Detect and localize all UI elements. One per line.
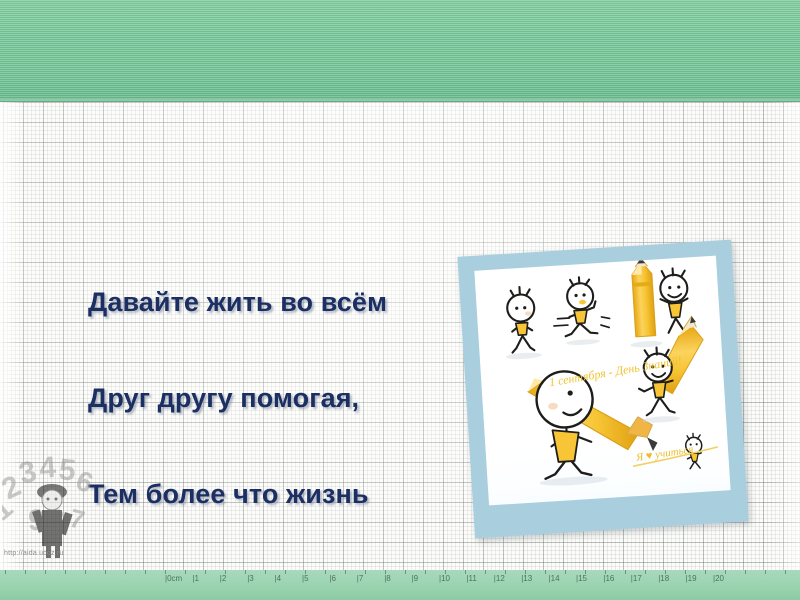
photo-card: 1 сентября - День Знаний! Я ♥ учиться (466, 248, 766, 548)
ruler-number-labels: |0cm|1|2|3|4|5|6|7|8|9|10|11|12|13|14|15… (0, 573, 800, 593)
ruler-label-8: |8 (384, 573, 391, 584)
ruler-label-3: |3 (247, 573, 254, 584)
ruler-label-0: |0cm (165, 573, 182, 584)
stick-figures-illustration: 1 сентября - День Знаний! Я ♥ учиться (474, 256, 730, 506)
ruler-strip: |0cm|1|2|3|4|5|6|7|8|9|10|11|12|13|14|15… (0, 570, 800, 600)
ruler-label-17: |17 (631, 573, 642, 584)
ruler-label-6: |6 (329, 573, 336, 584)
ruler-label-15: |15 (576, 573, 587, 584)
watermark-digit-5: 5 (57, 453, 77, 488)
ruler-label-7: |7 (357, 573, 364, 584)
ruler-label-19: |19 (686, 573, 697, 584)
poem-text-block: Давайте жить во всём Друг другу помогая,… (88, 222, 488, 600)
top-green-band (0, 0, 800, 102)
ruler-label-2: |2 (220, 573, 227, 584)
ruler-label-14: |14 (549, 573, 560, 584)
slide-canvas: Давайте жить во всём Друг другу помогая,… (0, 0, 800, 600)
photo-caption-bottom: Я ♥ учиться (634, 443, 694, 464)
ruler-label-12: |12 (494, 573, 505, 584)
photo-image-area: 1 сентября - День Знаний! Я ♥ учиться (474, 256, 730, 506)
watermark-url: http://aida.ucoz.ru (4, 550, 100, 557)
photo-frame-border: 1 сентября - День Знаний! Я ♥ учиться (457, 240, 748, 539)
ruler-label-20: |20 (713, 573, 724, 584)
ruler-label-1: |1 (192, 573, 199, 584)
ruler-label-16: |16 (603, 573, 614, 584)
pencil-vertical (631, 258, 656, 337)
stick-figure-3 (659, 268, 690, 334)
watermark-digit-4: 4 (38, 452, 57, 485)
ruler-label-9: |9 (412, 573, 419, 584)
ruler-label-5: |5 (302, 573, 309, 584)
poem-line-2: Друг другу помогая, (88, 382, 488, 414)
poem-line-1: Давайте жить во всём (88, 286, 488, 318)
watermark-logo: 2 3 4 5 6 1 9 8 7 (2, 452, 106, 560)
ruler-label-18: |18 (658, 573, 669, 584)
ruler-label-13: |13 (521, 573, 532, 584)
stick-figure-1 (506, 286, 537, 353)
ruler-label-11: |11 (466, 573, 476, 584)
stick-figure-2 (551, 276, 611, 337)
poem-line-3: Тем более что жизнь (88, 478, 488, 510)
ruler-label-4: |4 (275, 573, 282, 584)
ruler-label-10: |10 (439, 573, 450, 584)
watermark-figure (32, 484, 73, 558)
